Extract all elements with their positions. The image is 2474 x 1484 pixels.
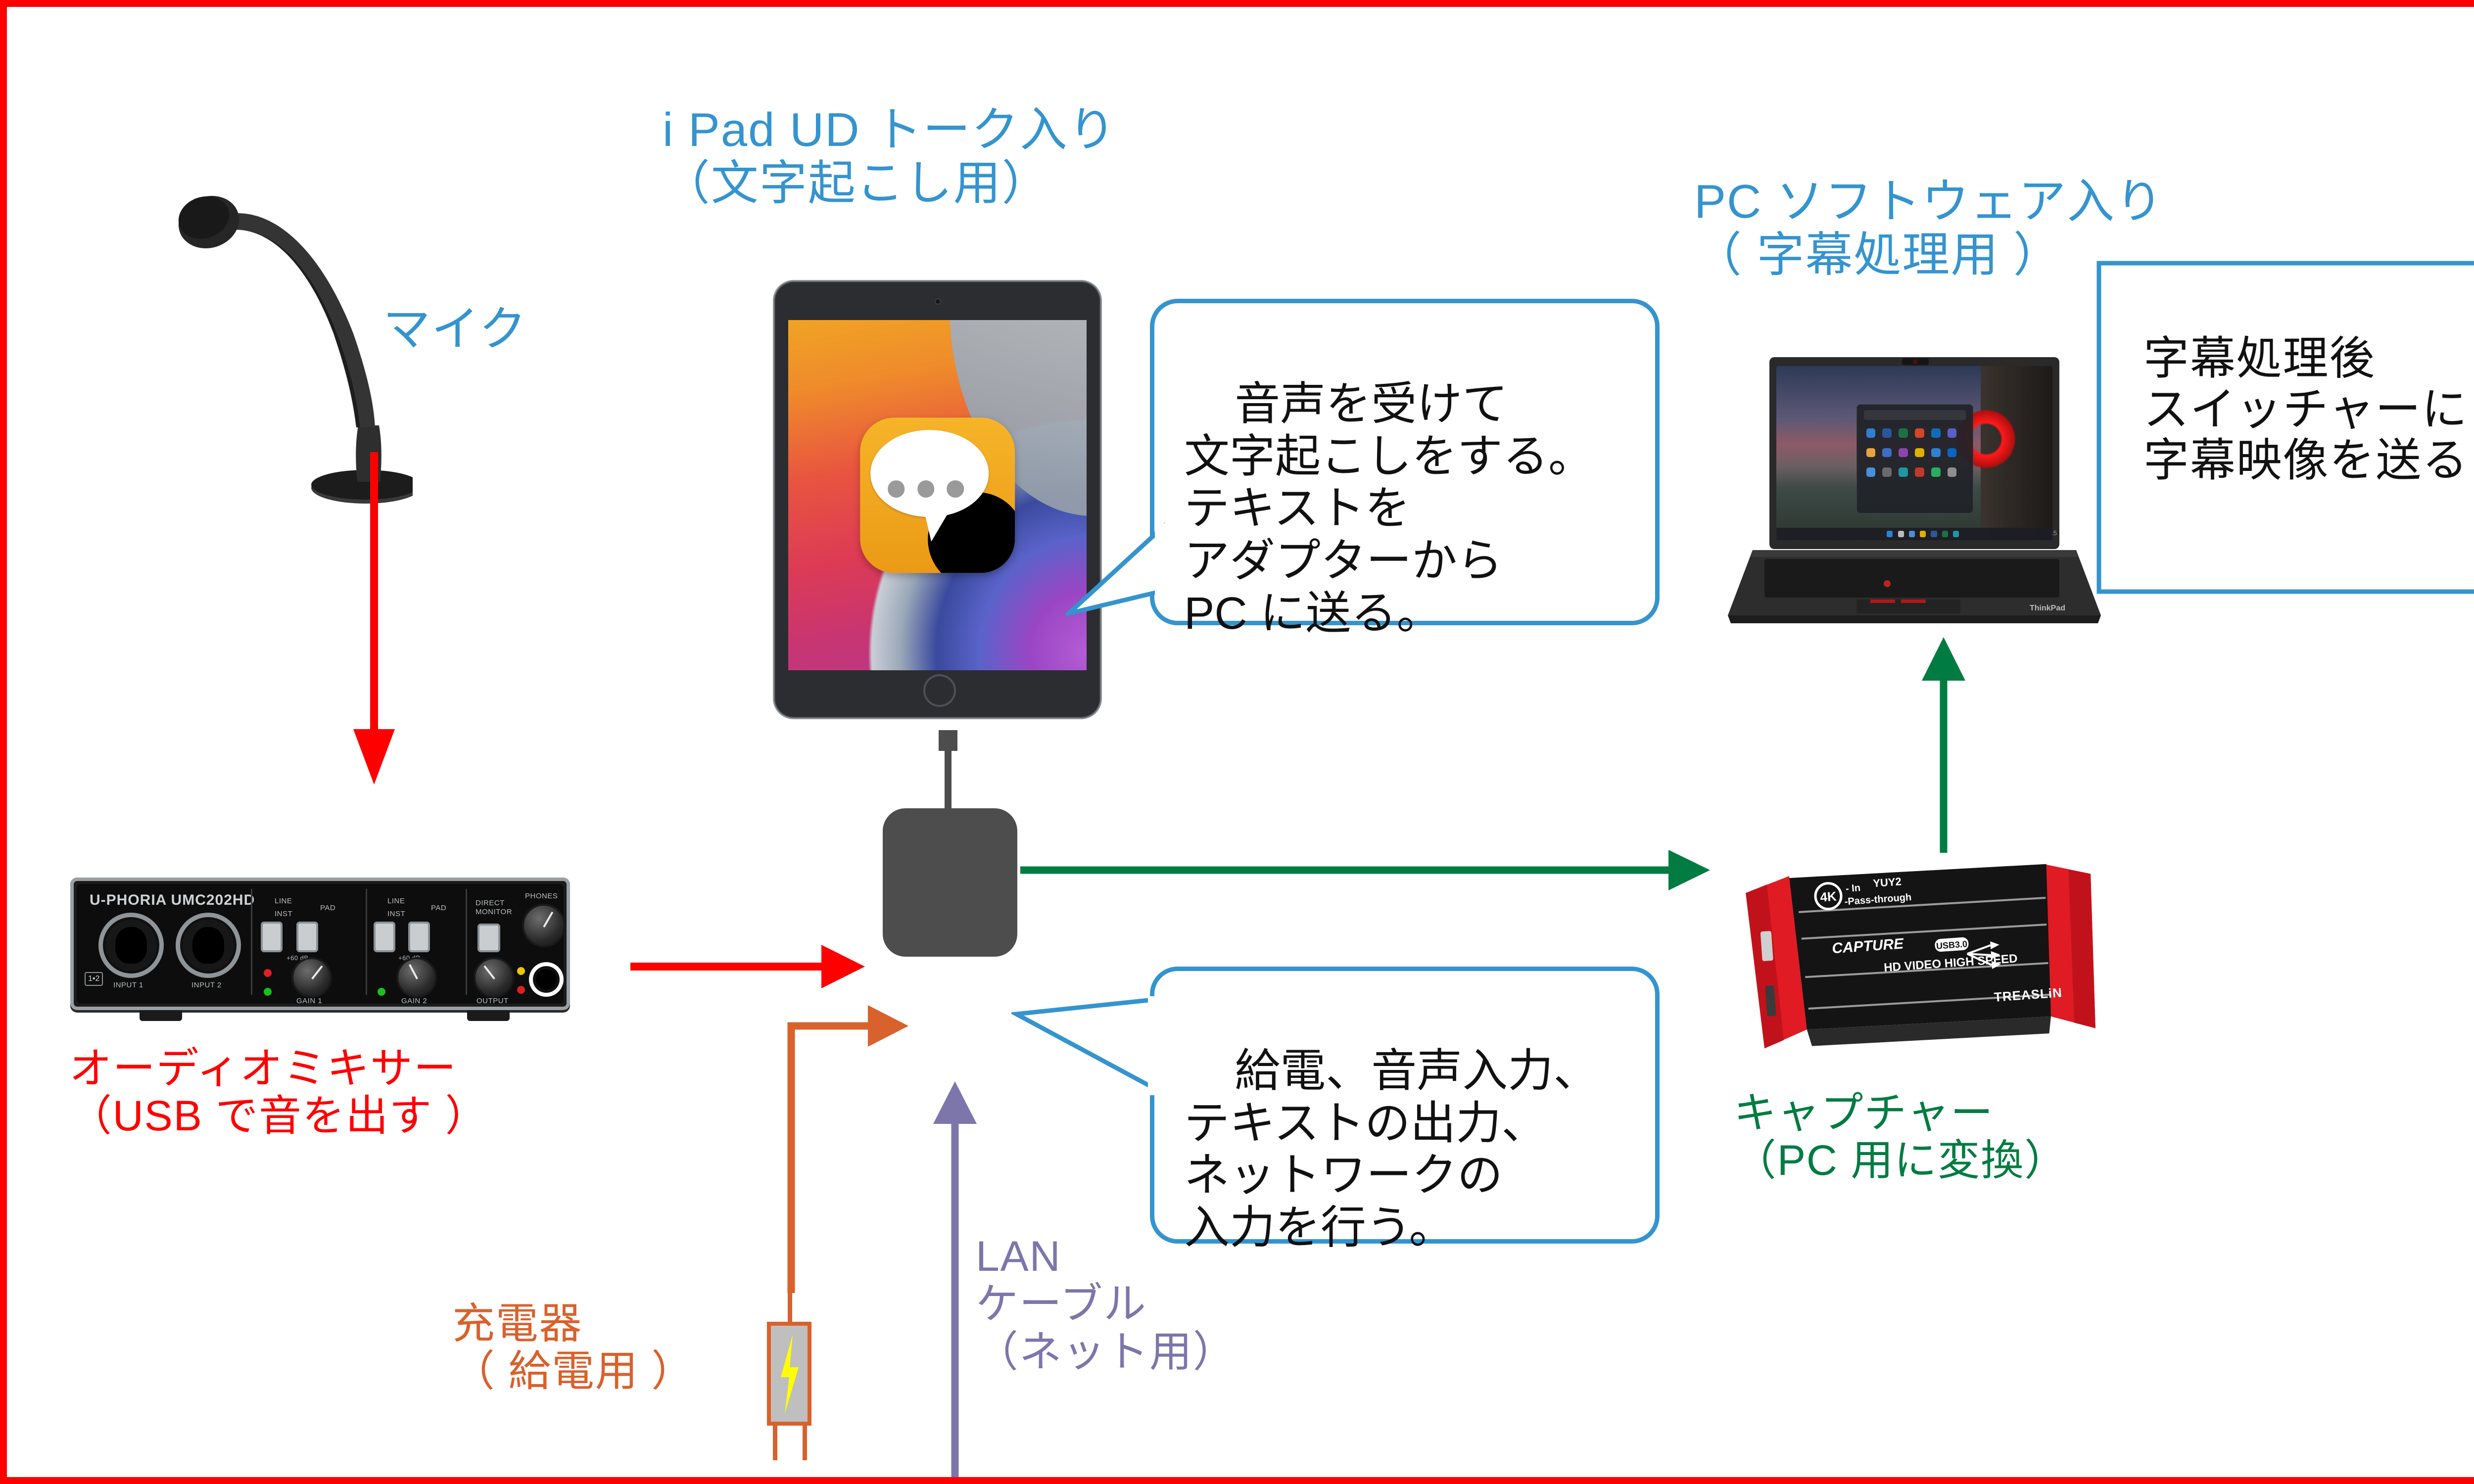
taskbar-widgets-icon[interactable] [1909, 531, 1915, 537]
connector-mixer-to-hub [630, 937, 868, 996]
mixer-foot-left [140, 1010, 182, 1021]
callout-hub-note-tail [1011, 991, 1160, 1120]
callout-hub-note: 給電、音声入力、 テキストの出力、 ネットワークの 入力を行う。 [1150, 967, 1660, 1244]
connector-charger-to-hub [769, 996, 912, 1298]
mixer-ch2-pad-switch[interactable] [408, 922, 430, 952]
callout-ipad-note: 音声を受けて 文字起こしをする。 テキストを アダプターから PC に送る。 [1150, 299, 1660, 625]
mixer-faceplate: U-PHORIA UMC202HD INPUT 1 INPUT 2 1•2 LI… [77, 884, 564, 1004]
mixer-ch1-sig-led [264, 988, 272, 996]
start-menu-app-icon[interactable] [1866, 448, 1876, 458]
mixer-input-1-label: INPUT 1 [113, 981, 143, 989]
mixer-gain2-knob[interactable] [398, 959, 435, 996]
ipad-front-camera [935, 298, 941, 305]
charger-icon [747, 1286, 836, 1449]
mixer-headphone-jack [529, 962, 564, 997]
start-menu-app-icon[interactable] [1948, 428, 1957, 438]
start-menu-app-icon[interactable] [1915, 467, 1924, 477]
label-audio-mixer: オーディオミキサー （USB で音を出す ） [69, 1045, 488, 1140]
diagram-canvas: マイク U-PHORIA UMC202HD INPUT 1 INPUT 2 1•… [0, 0, 2474, 1484]
mixer-ch2-sig-led [378, 988, 385, 996]
mixer-ch2-line-switch[interactable] [374, 922, 395, 952]
mixer-ch2-line-label: LINE [387, 897, 405, 905]
start-menu-app-icon[interactable] [1866, 467, 1876, 477]
taskbar-mail-icon[interactable] [1931, 531, 1937, 537]
mixer-phones-label: PHONES [525, 892, 558, 900]
connector-hub-to-capture [1020, 843, 1713, 897]
mixer-gain2-label: GAIN 2 [401, 997, 427, 1005]
mixer-ch2-inst-label: INST [387, 910, 405, 918]
mixer-brand-text: U-PHORIA UMC202HD [90, 892, 255, 909]
mixer-ch1-pad-label: PAD [320, 904, 335, 912]
mixer-power-led [517, 967, 525, 975]
callout-ipad-note-tail [1066, 516, 1165, 625]
mixer-ch2-pad-label: PAD [431, 904, 446, 912]
mixer-output-label: OUTPUT [476, 997, 509, 1005]
start-menu-app-icon[interactable] [1866, 428, 1876, 438]
label-microphone: マイク [383, 303, 527, 356]
start-menu-app-icon[interactable] [1915, 448, 1924, 458]
udtalk-speech-bubble [871, 430, 989, 517]
start-menu-app-icon[interactable] [1931, 428, 1941, 438]
mixer-input-2-label: INPUT 2 [191, 981, 222, 989]
mixer-ch1-line-label: LINE [275, 897, 292, 905]
mixer-ch1-clip-led [264, 969, 272, 977]
mixer-phantom-led [517, 986, 525, 994]
mixer-direct-monitor-switch[interactable] [477, 924, 500, 952]
mixer-gain1-knob[interactable] [293, 959, 330, 996]
taskbar-start-icon[interactable] [1887, 531, 1893, 537]
windows-start-menu[interactable] [1856, 404, 1973, 513]
taskbar-edge-icon[interactable] [1953, 531, 1959, 537]
callout-hub-note-text: 給電、音声入力、 テキストの出力、 ネットワークの 入力を行う。 [1184, 1046, 1599, 1253]
mixer-ch1-pad-switch[interactable] [296, 922, 318, 952]
taskbar-store-icon[interactable] [1942, 531, 1948, 537]
label-ipad-title: i Pad UD トーク入り （文字起こし用） [663, 103, 1117, 210]
usb-adapter-hub [883, 808, 1017, 957]
ipad-screen[interactable] [788, 320, 1087, 670]
start-menu-app-icon[interactable] [1882, 448, 1892, 458]
start-menu-app-icon[interactable] [1882, 428, 1892, 438]
start-menu-app-icon[interactable] [1948, 467, 1957, 477]
ipad-cable [945, 748, 952, 808]
start-menu-app-icon[interactable] [1882, 467, 1892, 477]
block-arrow-text: 字幕処理後 スイッチャーに 字幕映像を送る [2143, 333, 2469, 486]
start-menu-app-icon[interactable] [1899, 448, 1908, 458]
mixer-gain1-label: GAIN 1 [296, 997, 322, 1005]
mixer-phones-knob[interactable] [524, 906, 564, 945]
ipad-device [773, 280, 1102, 719]
mixer-ch1-inst-label: INST [275, 910, 292, 918]
start-menu-app-icon[interactable] [1931, 467, 1941, 477]
start-menu-app-icon[interactable] [1899, 428, 1908, 438]
taskbar-search-icon[interactable] [1898, 531, 1904, 537]
laptop-screen[interactable] [1776, 366, 2052, 540]
start-menu-app-icon[interactable] [1931, 448, 1941, 458]
mixer-foot-right [467, 1010, 510, 1021]
capture-card-device: 4K - In -Pass-through YUY2 CAPTURE USB3.… [1737, 845, 2116, 1068]
svg-text:YUY2: YUY2 [1873, 875, 1902, 889]
start-menu-app-icon[interactable] [1899, 467, 1908, 477]
start-menu-app-icon[interactable] [1915, 428, 1924, 438]
mixer-input-1-jack [98, 913, 164, 978]
callout-ipad-note-text: 音声を受けて 文字起こしをする。 テキストを アダプターから PC に送る。 [1184, 379, 1594, 639]
connector-capture-to-laptop [1907, 635, 1981, 853]
mixer-ch1-line-switch[interactable] [261, 922, 283, 952]
mixer-direct-monitor-label: DIRECT MONITOR [476, 899, 512, 917]
ipad-home-button[interactable] [923, 674, 956, 707]
label-pc-title: PC ソフトウェア入り （ 字幕処理用 ） [1694, 175, 2164, 281]
label-charger: 充電器 （ 給電用 ） [452, 1300, 695, 1395]
connector-mic-to-mixer [344, 452, 404, 788]
laptop-device: ThinkPad E15 [1724, 353, 2105, 630]
svg-text:ThinkPad: ThinkPad [2030, 604, 2065, 612]
udtalk-app-icon[interactable] [860, 417, 1015, 573]
svg-text:- In: - In [1845, 882, 1860, 894]
windows-taskbar[interactable] [1776, 528, 2052, 540]
audio-mixer-device: U-PHORIA UMC202HD INPUT 1 INPUT 2 1•2 LI… [70, 878, 570, 1010]
mixer-input-2-jack [176, 913, 241, 978]
start-menu-app-icon[interactable] [1948, 448, 1957, 458]
mixer-channel-badge: 1•2 [85, 972, 103, 986]
label-capture: キャプチャー （PC 用に変換） [1734, 1089, 2068, 1185]
taskbar-explorer-icon[interactable] [1920, 531, 1926, 537]
svg-text:4K: 4K [1819, 888, 1837, 904]
start-menu-search-box[interactable] [1864, 410, 1966, 420]
mixer-output-knob[interactable] [476, 959, 512, 996]
